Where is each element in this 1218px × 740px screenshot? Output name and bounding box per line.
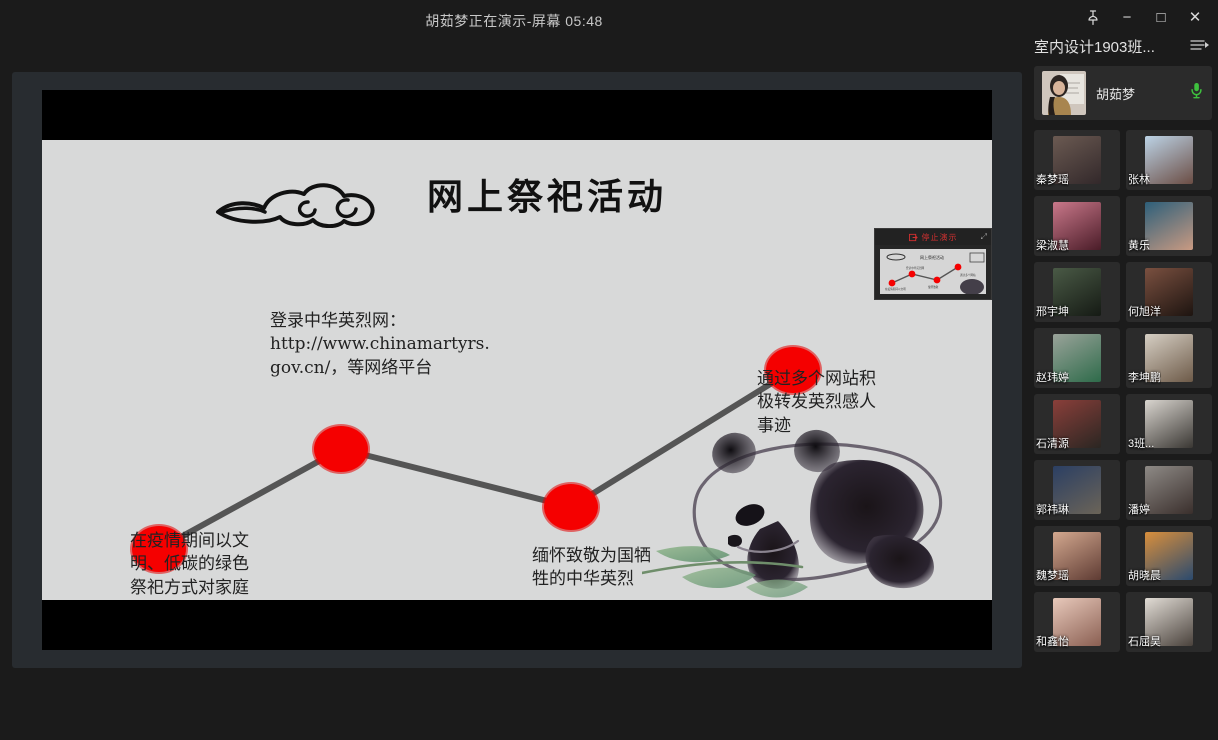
caption-green-memorial: 在疫情期间以文 明、低碳的绿色 祭祀方式对家庭 先人的怀念之情 — [130, 530, 325, 600]
participant-tile[interactable]: 李坤鹏 — [1126, 328, 1212, 388]
svg-text:网上祭祀活动: 网上祭祀活动 — [920, 254, 944, 260]
participant-name: 梁淑慧 — [1036, 237, 1069, 253]
avatar — [1042, 71, 1086, 115]
participant-tile[interactable]: 潘婷 — [1126, 460, 1212, 520]
caption-login-site: 登录中华英烈网： http://www.chinamartyrs. gov.cn… — [270, 310, 510, 380]
stop-presenting-bar[interactable]: 停止演示 ⤢ — [875, 229, 991, 245]
stop-presenting-label: 停止演示 — [922, 232, 958, 243]
participant-name: 何旭洋 — [1128, 303, 1161, 319]
shared-screen-stage[interactable]: 网上祭祀活动 — [12, 72, 1022, 668]
caption-line: 在疫情期间以文 — [130, 530, 325, 553]
caption-line: 登录中华英烈网： — [270, 310, 510, 333]
participant-video — [1145, 136, 1193, 184]
participant-tile[interactable]: 何旭洋 — [1126, 262, 1212, 322]
slide-thumbnail: 网上祭祀活动 登录中华英烈网 在疫情期间以文明 缅怀致敬 通过多个网站 — [880, 249, 986, 294]
list-menu-glyph — [1190, 39, 1210, 51]
caption-line: 事迹 — [757, 415, 942, 438]
participant-tile[interactable]: 黄乐 — [1126, 196, 1212, 256]
caption-remember-martyrs: 缅怀致敬为国牺 牲的中华英烈 — [532, 545, 727, 592]
list-menu-icon[interactable] — [1190, 39, 1210, 54]
window-controls: − □ ✕ — [1028, 0, 1218, 30]
microphone-active-glyph — [1191, 82, 1202, 99]
caption-line: 祭祀方式对家庭 — [130, 577, 325, 600]
participants-grid: 秦梦瑶 张林 梁淑慧 黄乐 邢宇坤 何旭洋 赵玮婷 李坤鹏 石清源 3班... … — [1034, 130, 1212, 652]
participant-name: 魏梦瑶 — [1036, 567, 1069, 583]
participant-name: 张林 — [1128, 171, 1150, 187]
participant-name: 3班... — [1128, 435, 1154, 451]
meeting-toolbar — [0, 668, 1028, 740]
participant-tile[interactable]: 石清源 — [1034, 394, 1120, 454]
expand-icon[interactable]: ⤢ — [981, 232, 987, 242]
participant-name: 赵玮婷 — [1036, 369, 1069, 385]
stop-presenting-icon — [909, 233, 918, 242]
stop-presenting-preview[interactable]: 停止演示 ⤢ 网上祭祀活动 登录中华英烈网 — [874, 228, 992, 300]
participant-tile[interactable]: 梁淑慧 — [1034, 196, 1120, 256]
maximize-icon[interactable]: □ — [1152, 8, 1170, 26]
svg-text:通过多个网站: 通过多个网站 — [960, 273, 976, 277]
panel-header: 室内设计1903班... — [1028, 30, 1218, 62]
participants-panel: − □ ✕ 室内设计1903班... 胡茹梦 — [1028, 0, 1218, 740]
participant-tile[interactable]: 和鑫怡 — [1034, 592, 1120, 652]
participant-tile[interactable]: 石屈昊 — [1126, 592, 1212, 652]
caption-forward-stories: 通过多个网站积 极转发英烈感人 事迹 — [757, 368, 942, 438]
participant-video — [1145, 202, 1193, 250]
participant-tile[interactable]: 张林 — [1126, 130, 1212, 190]
caption-line: http://www.chinamartyrs. — [270, 333, 510, 356]
participant-tile[interactable]: 胡晓晨 — [1126, 526, 1212, 586]
meeting-room-title: 室内设计1903班... — [1034, 36, 1155, 57]
participant-name: 和鑫怡 — [1036, 633, 1069, 649]
participant-name: 邢宇坤 — [1036, 303, 1069, 319]
minimize-icon[interactable]: − — [1118, 8, 1136, 26]
chart-node-2[interactable] — [314, 426, 368, 472]
svg-text:在疫情期间以文明: 在疫情期间以文明 — [885, 287, 906, 291]
active-speaker-row[interactable]: 胡茹梦 — [1034, 66, 1212, 120]
caption-line: 明、低碳的绿色 — [130, 553, 325, 576]
chart-node-3[interactable] — [544, 484, 598, 530]
pin-icon[interactable] — [1084, 8, 1102, 26]
close-icon[interactable]: ✕ — [1186, 8, 1204, 26]
participant-tile[interactable]: 3班... — [1126, 394, 1212, 454]
microphone-active-icon[interactable] — [1191, 82, 1202, 104]
video-letterbox: 网上祭祀活动 — [42, 90, 992, 650]
participant-name: 石屈昊 — [1128, 633, 1161, 649]
participant-tile[interactable]: 赵玮婷 — [1034, 328, 1120, 388]
participant-name: 石清源 — [1036, 435, 1069, 451]
presentation-slide: 网上祭祀活动 — [42, 140, 992, 600]
svg-text:缅怀致敬: 缅怀致敬 — [928, 285, 939, 289]
participant-name: 胡晓晨 — [1128, 567, 1161, 583]
presentation-status-text: 胡茹梦正在演示-屏幕 05:48 — [425, 11, 603, 31]
title-bar: 胡茹梦正在演示-屏幕 05:48 — [0, 0, 1028, 42]
caption-line: 缅怀致敬为国牺 — [532, 545, 727, 568]
participant-name: 郭祎琳 — [1036, 501, 1069, 517]
participant-name: 李坤鹏 — [1128, 369, 1161, 385]
participant-tile[interactable]: 魏梦瑶 — [1034, 526, 1120, 586]
caption-line: 极转发英烈感人 — [757, 391, 942, 414]
participant-tile[interactable]: 邢宇坤 — [1034, 262, 1120, 322]
pin-glyph — [1086, 10, 1100, 25]
participant-tile[interactable]: 郭祎琳 — [1034, 460, 1120, 520]
participant-name: 秦梦瑶 — [1036, 171, 1069, 187]
avatar-image — [1042, 71, 1086, 115]
slide-thumbnail-graphic: 网上祭祀活动 登录中华英烈网 在疫情期间以文明 缅怀致敬 通过多个网站 — [880, 249, 986, 294]
svg-text:登录中华英烈网: 登录中华英烈网 — [906, 266, 925, 270]
active-speaker-name: 胡茹梦 — [1096, 84, 1135, 103]
participant-video — [1145, 466, 1193, 514]
participant-name: 黄乐 — [1128, 237, 1150, 253]
caption-line: gov.cn/，等网络平台 — [270, 357, 510, 380]
participant-name: 潘婷 — [1128, 501, 1150, 517]
caption-line: 通过多个网站积 — [757, 368, 942, 391]
participant-tile[interactable]: 秦梦瑶 — [1034, 130, 1120, 190]
caption-line: 牲的中华英烈 — [532, 568, 727, 591]
